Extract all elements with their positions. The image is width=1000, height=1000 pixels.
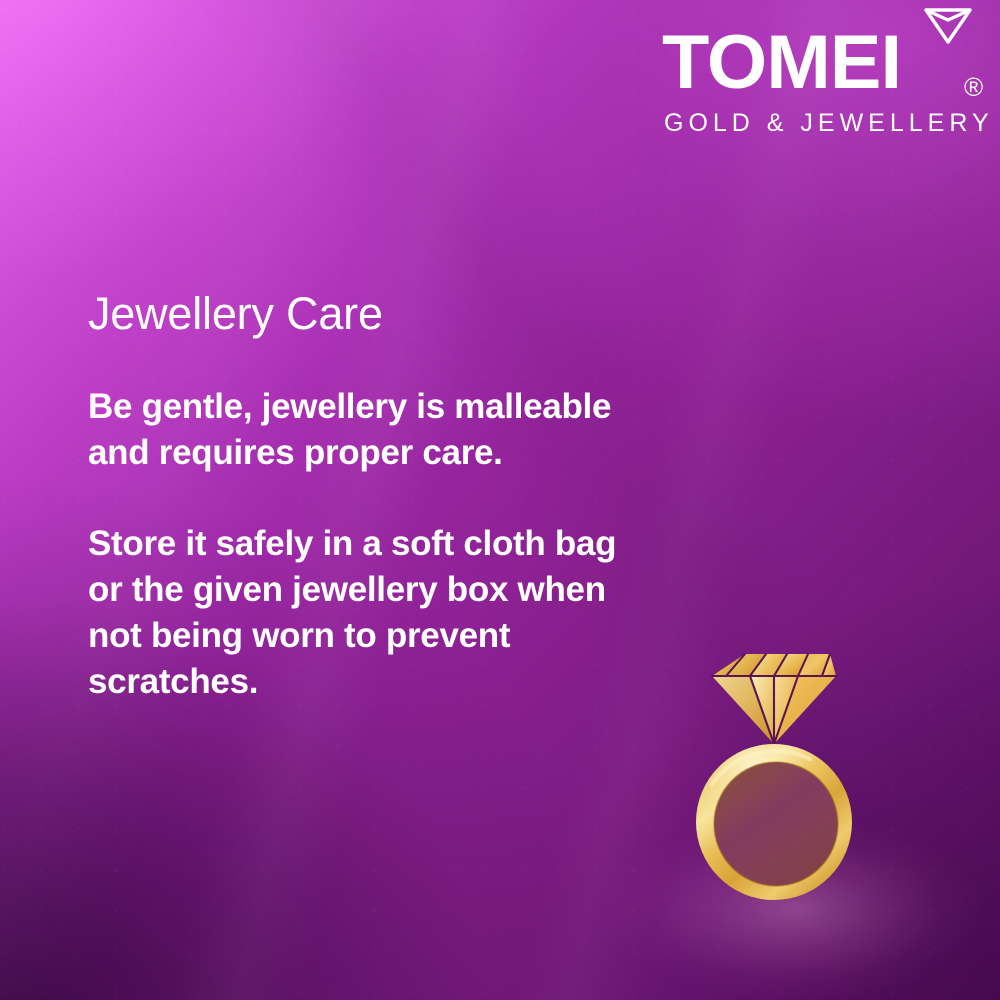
tomei-logo: TOMEI ® GOLD & JEWELLERY xyxy=(660,4,990,144)
logo-wordmark: TOMEI xyxy=(662,24,968,102)
care-paragraph-1: Be gentle, jewellery is malleable and re… xyxy=(88,384,633,476)
ring-band-icon xyxy=(696,744,852,900)
jewellery-care-poster: TOMEI ® GOLD & JEWELLERY Jewellery Care … xyxy=(0,0,1000,1000)
logo-tagline: GOLD & JEWELLERY xyxy=(664,108,990,138)
page-title: Jewellery Care xyxy=(88,288,648,340)
registered-trademark-icon: ® xyxy=(964,72,994,102)
care-paragraph-2: Store it safely in a soft cloth bag or t… xyxy=(88,521,633,705)
diamond-solid-icon xyxy=(712,654,836,744)
copy-block: Jewellery Care Be gentle, jewellery is m… xyxy=(88,288,648,705)
diamond-ring-illustration xyxy=(690,632,890,924)
